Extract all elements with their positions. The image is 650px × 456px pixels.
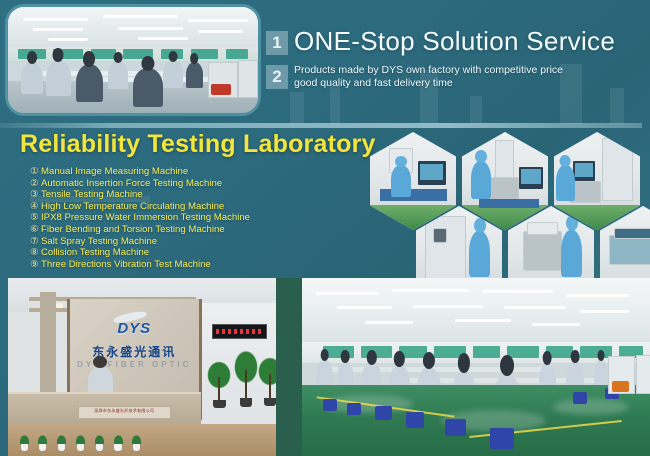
list-label: Three Directions Vibration Test Machine bbox=[41, 259, 211, 270]
sub-headline: Products made by DYS own factory with co… bbox=[294, 64, 644, 90]
list-label: Automatic Insertion Force Testing Machin… bbox=[41, 178, 222, 189]
potted-plant bbox=[19, 435, 30, 451]
lab-section-title: Reliability Testing Laboratory bbox=[20, 130, 376, 159]
bg-silhouette bbox=[290, 92, 304, 124]
list-item: ①Manual Image Measuring Machine bbox=[30, 166, 250, 178]
list-item: ⑥Fiber Bending and Torsion Testing Machi… bbox=[30, 224, 250, 236]
photo-gap bbox=[276, 278, 302, 456]
badge-number-1: 1 bbox=[266, 31, 288, 55]
list-item: ②Automatic Insertion Force Testing Machi… bbox=[30, 178, 250, 190]
list-item: ⑤IPX8 Pressure Water Immersion Testing M… bbox=[30, 212, 250, 224]
list-marker: ② bbox=[30, 178, 41, 190]
potted-plant bbox=[131, 435, 142, 451]
photo-company-lobby: DYS 东永盛光通讯 DYS FIBER OPTIC 深圳市东永盛光纤技术有限公… bbox=[8, 278, 276, 456]
list-marker: ⑨ bbox=[30, 259, 41, 271]
photo-factory-overview bbox=[8, 7, 258, 113]
desk-nameplate: 深圳市东永盛光纤技术有限公司 bbox=[78, 406, 171, 419]
list-marker: ⑥ bbox=[30, 224, 41, 236]
headline: ONE-Stop Solution Service bbox=[294, 26, 615, 57]
lab-equipment-list: ①Manual Image Measuring Machine ②Automat… bbox=[30, 166, 250, 270]
list-label: Salt Spray Testing Machine bbox=[41, 236, 157, 247]
list-marker: ⑤ bbox=[30, 212, 41, 224]
ceiling bbox=[302, 278, 650, 349]
promo-banner: 1 2 ONE-Stop Solution Service Products m… bbox=[0, 0, 650, 456]
list-item: ⑦Salt Spray Testing Machine bbox=[30, 236, 250, 248]
dys-logo: DYS bbox=[117, 320, 151, 337]
list-marker: ① bbox=[30, 166, 41, 178]
potted-tree bbox=[257, 356, 276, 406]
potted-plant bbox=[94, 435, 105, 451]
sub-headline-line2: good quality and fast delivery time bbox=[294, 77, 644, 90]
list-item: ⑧Collision Testing Machine bbox=[30, 247, 250, 259]
list-marker: ④ bbox=[30, 201, 41, 213]
list-item: ③Tensile Testing Machine bbox=[30, 189, 250, 201]
desk-nameplate-text: 深圳市东永盛光纤技术有限公司 bbox=[79, 407, 170, 415]
bg-silhouette bbox=[610, 88, 624, 124]
list-marker: ⑦ bbox=[30, 236, 41, 248]
potted-plant bbox=[56, 435, 67, 451]
list-item: ④High Low Temperature Circulating Machin… bbox=[30, 201, 250, 213]
potted-plant bbox=[113, 435, 124, 451]
led-display bbox=[212, 324, 268, 338]
lab-photo-hexgrid bbox=[368, 130, 650, 270]
list-marker: ③ bbox=[30, 189, 41, 201]
bg-silhouette bbox=[330, 86, 340, 124]
list-label: Collision Testing Machine bbox=[41, 247, 149, 258]
potted-plant bbox=[37, 435, 48, 451]
badge-number-2: 2 bbox=[266, 65, 288, 89]
list-label: High Low Temperature Circulating Machine bbox=[41, 201, 224, 212]
list-label: IPX8 Pressure Water Immersion Testing Ma… bbox=[41, 212, 250, 223]
list-label: Tensile Testing Machine bbox=[41, 189, 143, 200]
photo-production-floor bbox=[302, 278, 650, 456]
list-label: Manual Image Measuring Machine bbox=[41, 166, 188, 177]
potted-plant bbox=[75, 435, 86, 451]
list-item: ⑨Three Directions Vibration Test Machine bbox=[30, 259, 250, 271]
potted-tree bbox=[233, 349, 259, 407]
sub-headline-line1: Products made by DYS own factory with co… bbox=[294, 64, 644, 77]
bg-silhouette bbox=[470, 96, 482, 124]
list-marker: ⑧ bbox=[30, 247, 41, 259]
list-label: Fiber Bending and Torsion Testing Machin… bbox=[41, 224, 225, 235]
section-divider bbox=[0, 123, 642, 128]
potted-tree bbox=[206, 360, 232, 408]
